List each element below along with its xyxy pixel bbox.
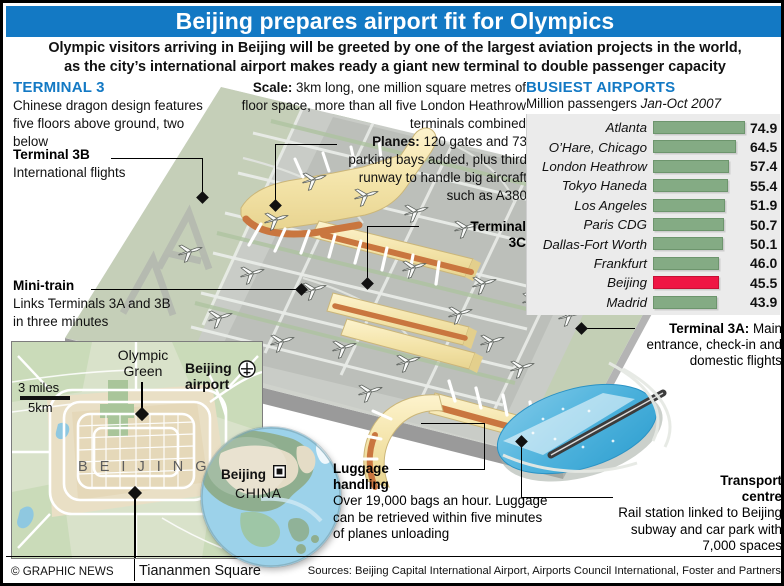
chart-subtitle: Million passengers Jan-Oct 2007: [526, 96, 782, 111]
leader-planes-v: [275, 144, 276, 205]
chart-bar-row: London Heathrow57.4: [529, 157, 778, 176]
terminal-3b-lead: Terminal 3B: [13, 147, 90, 162]
luggage-lead-1: Luggage: [333, 461, 389, 476]
globe-city-marker-icon: [273, 465, 286, 478]
chart-bar-row: Atlanta74.9: [529, 118, 778, 137]
callout-scale: Scale: 3km long, one million square metr…: [229, 79, 526, 133]
callout-terminal-3: TERMINAL 3 Chinese dragon design feature…: [13, 79, 218, 151]
leader-luggage-h2: [421, 423, 485, 424]
title-bar: Beijing prepares airport fit for Olympic…: [6, 6, 784, 37]
chart-bar-highlight: [653, 276, 719, 289]
chart-bar-value: 50.1: [745, 236, 778, 252]
chart-bar-label: Frankfurt: [529, 256, 653, 271]
chart-bar-row: O’Hare, Chicago64.5: [529, 137, 778, 156]
busiest-airports-chart: BUSIEST AIRPORTS Million passengers Jan-…: [526, 79, 782, 315]
chart-title: BUSIEST AIRPORTS: [526, 79, 782, 96]
chart-bar-label: London Heathrow: [529, 159, 653, 174]
chart-bar-label: O’Hare, Chicago: [529, 140, 653, 155]
chart-bar-track: [653, 293, 745, 312]
chart-bar-label: Atlanta: [529, 120, 653, 135]
chart-bar: [653, 199, 725, 212]
chart-bar-row: Madrid43.9: [529, 293, 778, 312]
chart-bar-label: Dallas-Fort Worth: [529, 237, 653, 252]
chart-bar-track: [653, 157, 745, 176]
chart-bar-row: Tokyo Haneda55.4: [529, 176, 778, 195]
olympic-green-line-2: Green: [124, 363, 163, 379]
chart-bar-value: 50.7: [745, 217, 778, 233]
callout-mini-train: Mini-train Links Terminals 3A and 3B in …: [13, 277, 178, 331]
map-scale-miles: 3 miles: [18, 380, 59, 396]
mini-train-lead: Mini-train: [13, 278, 74, 293]
airport-plane-icon: [238, 360, 256, 378]
luggage-body: Over 19,000 bags an hour. Luggage can be…: [333, 493, 547, 540]
callout-terminal-3b: Terminal 3B International flights: [13, 146, 163, 182]
callout-luggage: Luggage handling Over 19,000 bags an hou…: [333, 461, 548, 542]
map-label-olympic-green: Olympic Green: [100, 348, 186, 379]
chart-bar-label: Paris CDG: [529, 217, 653, 232]
chart-bar-track: [653, 273, 745, 292]
subtitle-line-1: Olympic visitors arriving in Beijing wil…: [48, 40, 741, 56]
chart-bar-label: Beijing: [529, 275, 653, 290]
chart-bar-row: Los Angeles51.9: [529, 196, 778, 215]
chart-bar-value: 64.5: [745, 139, 778, 155]
callout-terminal-3c: Terminal 3C: [423, 219, 526, 251]
map-label-beijing-airport: Beijing airport: [185, 360, 237, 392]
terminal-3c-lead-2: 3C: [509, 235, 526, 250]
leader-tiananmen: [134, 498, 136, 559]
globe-label-country: CHINA: [235, 485, 282, 501]
chart-bar-track: [653, 137, 745, 156]
chart-bar-track: [653, 234, 745, 253]
page-title: Beijing prepares airport fit for Olympic…: [176, 8, 615, 35]
chart-bar-value: 43.9: [745, 294, 778, 310]
footer-rule: [6, 556, 784, 557]
chart-bar-value: 55.4: [745, 178, 778, 194]
callout-transport-centre: Transport centre Rail station linked to …: [617, 473, 782, 554]
leader-terminal-3c-h: [367, 226, 419, 227]
chart-bar: [653, 179, 728, 192]
transport-lead-1: Transport: [720, 473, 782, 488]
planes-lead: Planes:: [372, 134, 420, 149]
chart-bar-track: [653, 118, 745, 137]
chart-bar-label: Los Angeles: [529, 198, 653, 213]
chart-bar-track: [653, 176, 745, 195]
sources-note: Sources: Beijing Capital International A…: [269, 559, 781, 583]
beijing-airport-line-2: airport: [185, 376, 229, 392]
chart-bar-row: Paris CDG50.7: [529, 215, 778, 234]
chart-subtitle-prefix: Million passengers: [526, 96, 641, 111]
luggage-lead-2: handling: [333, 477, 389, 492]
chart-bar: [653, 296, 717, 309]
chart-bar-label: Tokyo Haneda: [529, 178, 653, 193]
globe-label-city: Beijing: [221, 467, 266, 482]
chart-bar: [653, 218, 724, 231]
terminal-3b-body: International flights: [13, 165, 125, 180]
chart-bar: [653, 160, 729, 173]
terminal-3a-lead: Terminal 3A:: [669, 321, 749, 336]
globe-inset: Beijing CHINA: [201, 427, 341, 567]
chart-bar-value: 51.9: [745, 197, 778, 213]
terminal-3-heading: TERMINAL 3: [13, 79, 218, 96]
chart-bar-row: Beijing45.5: [529, 273, 778, 292]
terminal-3-body: Chinese dragon design features five floo…: [13, 98, 203, 149]
chart-bar-track: [653, 254, 745, 273]
mini-train-body: Links Terminals 3A and 3B in three minut…: [13, 296, 171, 329]
chart-bar-value: 74.9: [745, 120, 778, 136]
chart-bar-track: [653, 215, 745, 234]
chart-bar-row: Dallas-Fort Worth50.1: [529, 234, 778, 253]
infographic-root: Beijing prepares airport fit for Olympic…: [0, 0, 784, 586]
chart-bar-track: [653, 196, 745, 215]
chart-subtitle-period: Jan-Oct 2007: [641, 96, 721, 111]
chart-bar: [653, 121, 745, 134]
leader-terminal-3c-v: [367, 226, 368, 283]
chart-bar-value: 45.5: [745, 275, 778, 291]
chart-bar-row: Frankfurt46.0: [529, 254, 778, 273]
map-label-city: B E I J I N G: [78, 460, 211, 476]
terminal-3c-lead-1: Terminal: [470, 219, 526, 234]
chart-bar-value: 46.0: [745, 255, 778, 271]
callout-planes: Planes: 120 gates and 73 parking bays ad…: [341, 133, 527, 205]
footer-divider: [134, 559, 135, 581]
chart-bar-label: Madrid: [529, 295, 653, 310]
transport-body: Rail station linked to Beijing subway an…: [618, 505, 782, 552]
chart-bar: [653, 140, 736, 153]
map-scale-km: 5km: [28, 400, 53, 416]
chart-bar: [653, 257, 719, 270]
beijing-airport-line-1: Beijing: [185, 360, 232, 376]
chart-bar-value: 57.4: [745, 158, 778, 174]
leader-terminal-3a-h: [583, 328, 635, 329]
transport-lead-2: centre: [742, 489, 782, 504]
olympic-green-line-1: Olympic: [118, 347, 169, 363]
chart-bar: [653, 237, 723, 250]
chart-panel: Atlanta74.9O’Hare, Chicago64.5London Hea…: [526, 114, 780, 315]
leader-planes-h: [275, 144, 337, 145]
callout-terminal-3a: Terminal 3A: Main entrance, check-in and…: [637, 321, 782, 370]
copyright-notice: © GRAPHIC NEWS: [11, 559, 114, 583]
scale-lead: Scale:: [253, 80, 292, 95]
